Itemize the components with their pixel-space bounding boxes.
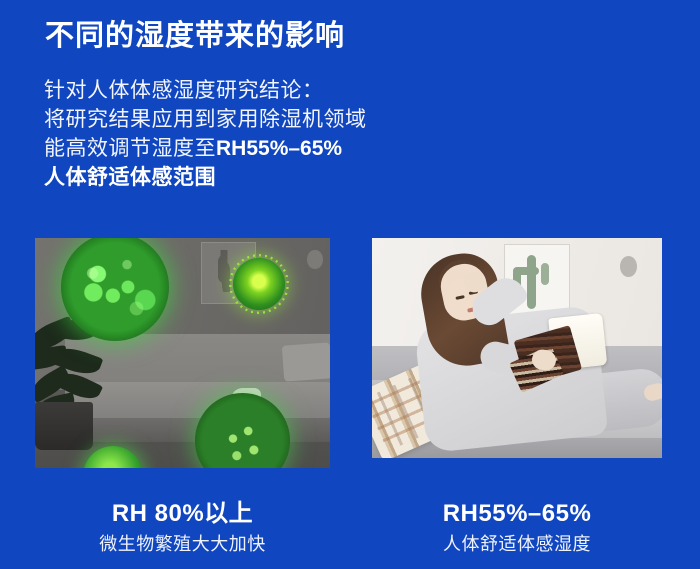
caption-comfort-humidity: RH55%–65% 人体舒适体感湿度 (372, 500, 662, 557)
cactus-stem (527, 255, 536, 309)
copy-line-3-highlight: RH55%–65% (216, 137, 342, 160)
copy-line-3: 能高效调节湿度至RH55%–65% (44, 134, 474, 163)
microbe-cluster-large-icon (61, 238, 169, 341)
copy-line-2: 将研究结果应用到家用除湿机领域 (44, 105, 474, 134)
caption-subtitle: 微生物繁殖大大加快 (35, 531, 330, 557)
page-title: 不同的湿度带来的影响 (45, 16, 345, 56)
room-scene-dark (35, 238, 330, 468)
copy-line-3-normal: 能高效调节湿度至 (44, 137, 216, 160)
photo-comfort-humidity (372, 238, 662, 458)
wall-lamp-icon (307, 250, 323, 269)
body-copy: 针对人体体感湿度研究结论： 将研究结果应用到家用除湿机领域 能高效调节湿度至RH… (44, 76, 474, 192)
caption-title: RH 80%以上 (35, 500, 330, 528)
caption-high-humidity: RH 80%以上 微生物繁殖大大加快 (35, 500, 330, 557)
wall-lamp-icon (620, 256, 637, 277)
room-scene-bright (372, 238, 662, 458)
cactus-arm (541, 263, 549, 285)
caption-subtitle: 人体舒适体感湿度 (372, 531, 662, 557)
cushion (282, 342, 330, 381)
caption-title: RH55%–65% (372, 500, 662, 528)
eye (455, 295, 464, 300)
virus-particle-icon (233, 258, 285, 310)
photo-high-humidity (35, 238, 330, 468)
copy-line-1: 针对人体体感湿度研究结论： (44, 76, 474, 105)
plant-pot (35, 402, 93, 450)
copy-line-4: 人体舒适体感范围 (44, 163, 474, 192)
poster-root: 不同的湿度带来的影响 针对人体体感湿度研究结论： 将研究结果应用到家用除湿机领域… (0, 0, 700, 569)
